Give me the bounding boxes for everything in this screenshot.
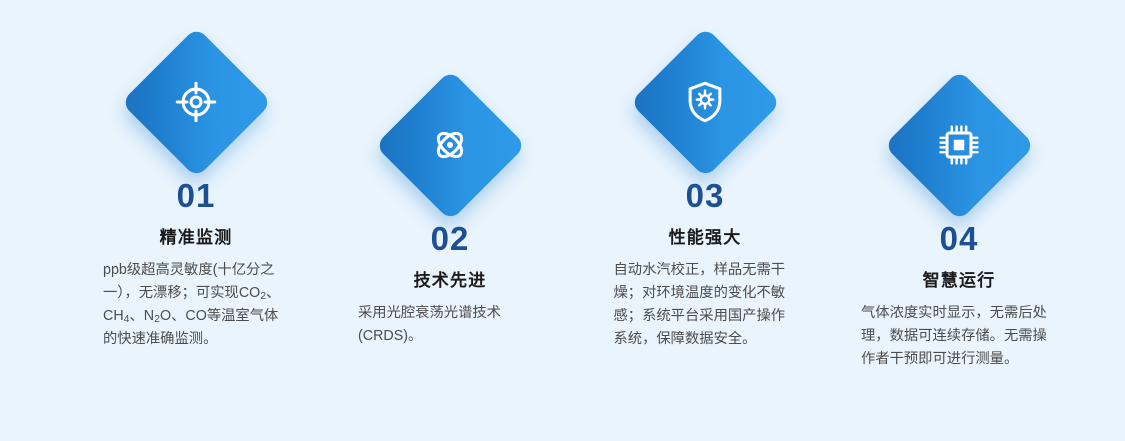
diamond-badge-2 <box>374 69 526 221</box>
card-title: 智慧运行 <box>923 272 996 289</box>
feature-infographic: 01 精准监测 ppb级超高灵敏度(十亿分之一），无漂移；可实现CO2、CH4、… <box>0 0 1125 441</box>
cpu-chip-icon <box>931 117 987 173</box>
diamond-badge-3 <box>629 26 781 178</box>
diamond-badge-4 <box>883 69 1035 221</box>
diamond-badge-1 <box>120 26 272 178</box>
card-description: 自动水汽校正，样品无需干燥；对环境温度的变化不敏感；系统平台采用国产操作系统，保… <box>614 259 797 352</box>
card-title: 精准监测 <box>160 229 233 246</box>
target-crosshair-icon <box>168 74 224 130</box>
card-number: 04 <box>940 222 979 255</box>
feature-card-1: 01 精准监测 ppb级超高灵敏度(十亿分之一），无漂移；可实现CO2、CH4、… <box>61 26 331 352</box>
card-title: 技术先进 <box>414 272 487 289</box>
atom-icon <box>422 117 478 173</box>
feature-card-2: 02 技术先进 采用光腔衰荡光谱技术(CRDS)。 <box>315 69 585 348</box>
card-number: 03 <box>686 179 725 212</box>
card-number: 02 <box>431 222 470 255</box>
card-title: 性能强大 <box>669 229 742 246</box>
card-description: 采用光腔衰荡光谱技术(CRDS)。 <box>358 302 542 348</box>
feature-card-4: 04 智慧运行 气体浓度实时显示，无需后处理，数据可连续存储。无需操作者干预即可… <box>824 69 1094 371</box>
feature-card-3: 03 性能强大 自动水汽校正，样品无需干燥；对环境温度的变化不敏感；系统平台采用… <box>570 26 840 352</box>
card-number: 01 <box>177 179 216 212</box>
shield-gear-icon <box>677 74 733 130</box>
card-description: ppb级超高灵敏度(十亿分之一），无漂移；可实现CO2、CH4、N2O、CO等温… <box>103 259 289 352</box>
card-description: 气体浓度实时显示，无需后处理，数据可连续存储。无需操作者干预即可进行测量。 <box>861 302 1057 371</box>
